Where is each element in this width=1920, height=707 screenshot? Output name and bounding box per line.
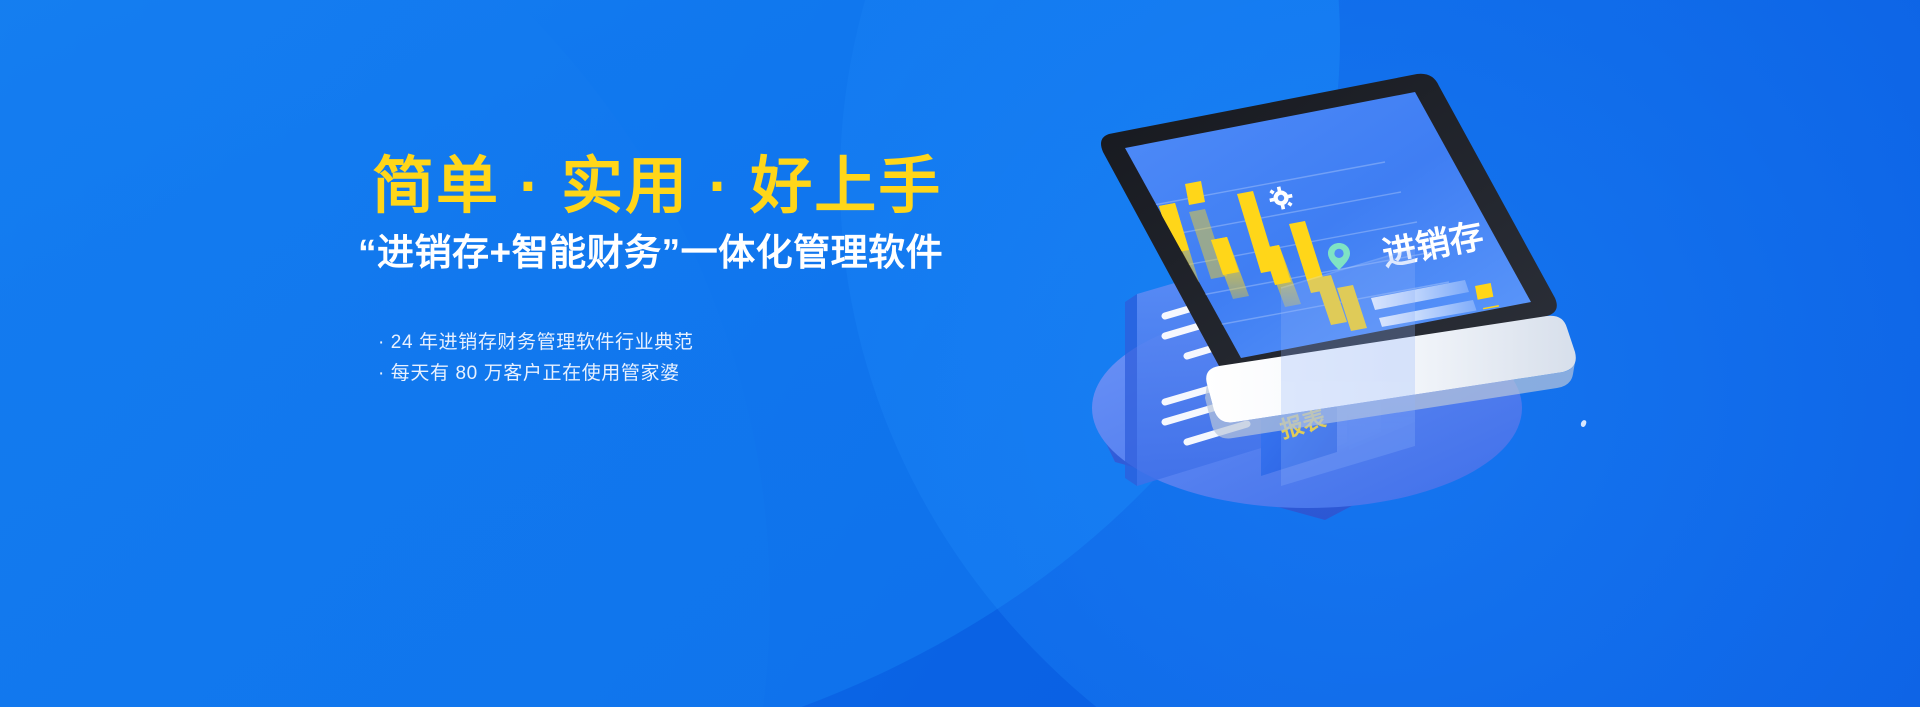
list-item: · 24 年进销存财务管理软件行业典范 (378, 327, 1012, 358)
list-item: · 每天有 80 万客户正在使用管家婆 (378, 358, 1012, 389)
front-overlay-panel (1281, 248, 1415, 486)
hero-headline: 简单 · 实用 · 好上手 (372, 154, 1012, 221)
hero-subheadline: “进销存+智能财务”一体化管理软件 (358, 231, 1012, 275)
hero-illustration: 财务 报表 (1085, 90, 1605, 570)
hero-bullet-list: · 24 年进销存财务管理软件行业典范 · 每天有 80 万客户正在使用管家婆 (378, 327, 1012, 389)
hero-banner: 简单 · 实用 · 好上手 “进销存+智能财务”一体化管理软件 · 24 年进销… (0, 0, 1920, 707)
hero-copy: 简单 · 实用 · 好上手 “进销存+智能财务”一体化管理软件 · 24 年进销… (372, 154, 1012, 389)
